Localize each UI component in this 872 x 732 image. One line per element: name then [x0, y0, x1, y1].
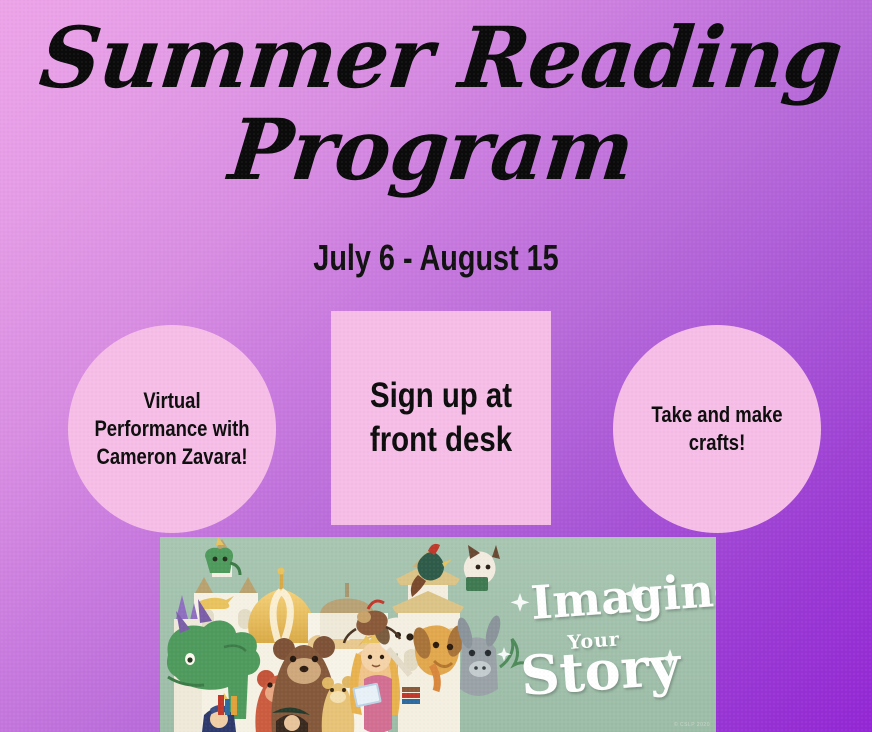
teddy-bear-character [322, 676, 355, 732]
summer-reading-poster: Summer Reading Program July 6 - August 1… [0, 0, 872, 732]
banner-copyright: © CSLP 2020 [674, 722, 710, 728]
banner-artwork: Imagine Your Story [160, 537, 716, 732]
imagine-your-story-banner: Imagine Your Story © CSLP 2020 [160, 537, 716, 732]
date-range: July 6 - August 15 [87, 238, 785, 278]
logo-line-story: Story [518, 633, 683, 708]
highlight-virtual-performance-label: Virtual Performance with Cameron Zavara! [85, 387, 260, 471]
highlight-virtual-performance: Virtual Performance with Cameron Zavara! [68, 325, 276, 533]
highlight-take-and-make-label: Take and make crafts! [630, 401, 805, 457]
title-line-1: Summer Reading [35, 8, 846, 107]
page-title: Summer Reading Program [0, 12, 872, 196]
highlight-sign-up: Sign up at front desk [331, 311, 551, 525]
title-line-2: Program [0, 104, 872, 196]
highlight-take-and-make: Take and make crafts! [613, 325, 821, 533]
highlight-sign-up-label: Sign up at front desk [349, 374, 534, 462]
